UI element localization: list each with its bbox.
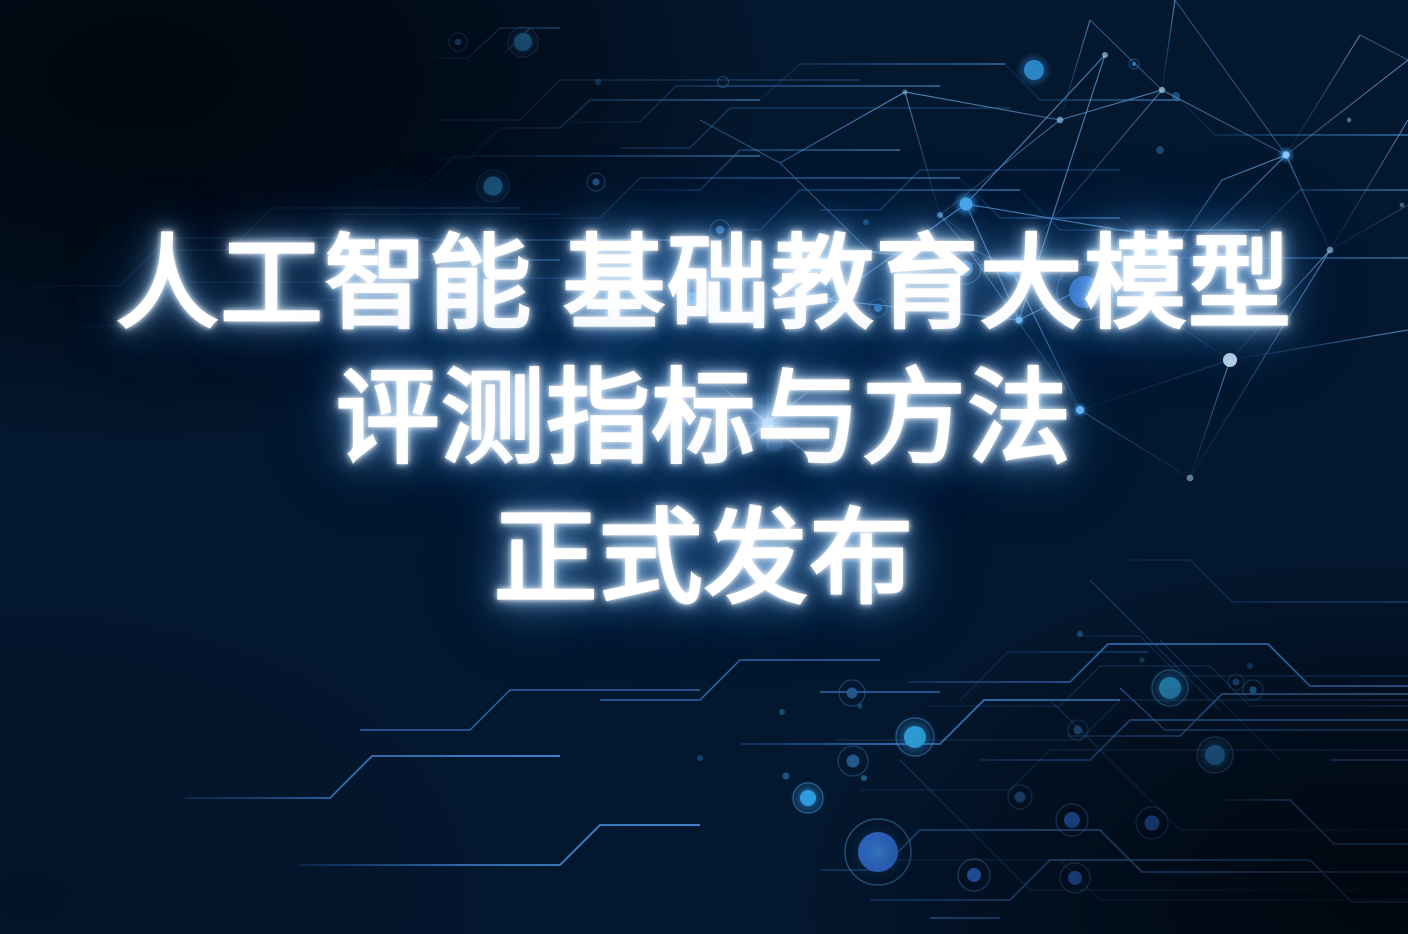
background-vignette — [0, 0, 1408, 934]
poster-canvas: 人工智能 基础教育大模型 评测指标与方法 正式发布 — [0, 0, 1408, 934]
